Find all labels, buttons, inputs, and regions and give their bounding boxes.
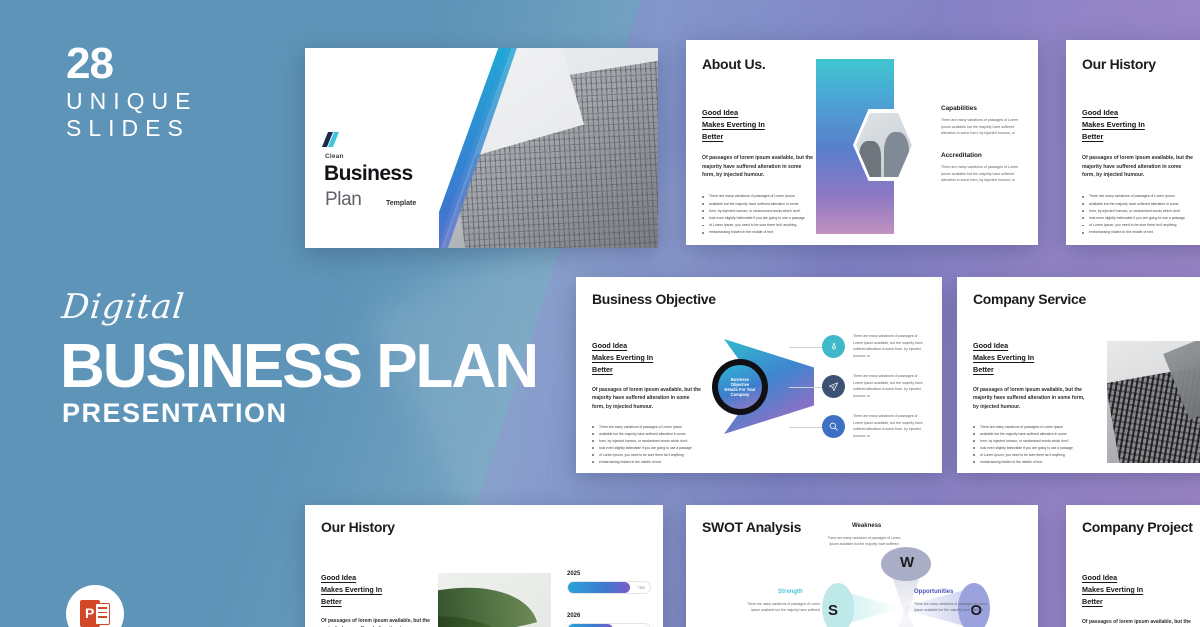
slide-our-history-bottom[interactable]: Our History Good Idea Makes Everting In … — [305, 505, 663, 627]
swot-caption-opportunities: Opportunities — [914, 589, 953, 595]
progress-percent: 75% — [638, 586, 645, 590]
block-head-line3: Better — [1082, 131, 1194, 143]
bullet-item: available but the majority have suffered… — [973, 431, 1085, 438]
bullet-item: available but the majority have suffered… — [1082, 201, 1194, 208]
bullet-item: of Lorem Ipsum, you need to be sure ther… — [702, 222, 814, 229]
bullet-item: look even slightly believable if you are… — [1082, 215, 1194, 222]
objective-item-text: There are many variations of passages of… — [853, 373, 927, 400]
block-head-line2: Makes Everting In — [702, 119, 814, 131]
objective-item-text: There are many variations of passages of… — [853, 333, 927, 360]
about-bullets: There are many variations of passages of… — [702, 193, 814, 236]
progress-label: 2025 — [567, 571, 651, 577]
block-head-line2: Makes Everting In — [592, 352, 702, 364]
objective-block-body: Of passages of lorem ipsum available, bu… — [592, 386, 702, 412]
history-bottom-photo — [438, 573, 551, 627]
bullet-item: There are many variations of passages of… — [702, 193, 814, 200]
cover-title-secondary: Plan — [325, 189, 361, 211]
bullet-item: form, by injected humour, or randomised … — [1082, 208, 1194, 215]
history-top-bullets: There are many variations of passages of… — [1082, 193, 1194, 236]
block-head-line1: Good Idea — [973, 340, 1085, 352]
slide-count-caption-line2: SLIDES — [66, 115, 197, 142]
slide-business-objective[interactable]: Business Objective Good Idea Makes Evert… — [576, 277, 942, 473]
accreditation-heading: Accreditation — [941, 152, 1026, 159]
about-block-body: Of passages of lorem ipsum available, bu… — [702, 154, 814, 181]
history-top-block-heading: Good Idea Makes Everting In Better — [1082, 107, 1194, 144]
swot-letter-s: S — [828, 602, 838, 619]
history-top-title: Our History — [1082, 56, 1156, 72]
objective-title: Business Objective — [592, 291, 716, 307]
progress-fill — [568, 582, 630, 593]
slide-count-caption-line1: UNIQUE — [66, 88, 197, 115]
about-block-heading: Good Idea Makes Everting In Better — [702, 107, 814, 144]
cover-photo-area — [439, 48, 658, 248]
history-top-text-block: Good Idea Makes Everting In Better Of pa… — [1082, 107, 1194, 236]
powerpoint-icon — [80, 599, 110, 627]
hero-script-word: Digital — [60, 287, 187, 327]
block-head-line1: Good Idea — [592, 340, 702, 352]
capabilities-text: There are many variations of passages of… — [941, 117, 1026, 137]
touch-icon[interactable] — [822, 335, 845, 358]
progress-bar[interactable]: 75% — [567, 581, 651, 594]
about-text-block: Good Idea Makes Everting In Better Of pa… — [702, 107, 814, 236]
service-text-block: Good Idea Makes Everting In Better Of pa… — [973, 340, 1085, 466]
project-text-block: Good Idea Makes Everting In Better Of pa… — [1082, 572, 1194, 627]
accreditation-text: There are many variations of passages of… — [941, 164, 1026, 184]
objective-bullets: There are many variations of passages of… — [592, 424, 702, 466]
project-block-body: Of passages of lorem ipsum available, bu… — [1082, 618, 1194, 627]
history-top-block-body: Of passages of lorem ipsum available, bu… — [1082, 154, 1194, 181]
block-head-line2: Makes Everting In — [321, 584, 431, 596]
capabilities-heading: Capabilities — [941, 105, 1026, 112]
objective-item-text: There are many variations of passages of… — [853, 413, 927, 440]
swot-text-strength: There are many variations of passages of… — [744, 601, 820, 614]
swot-text-weakness: There are many variations of passages of… — [826, 535, 902, 548]
about-side-accreditation: Accreditation There are many variations … — [941, 152, 1026, 184]
block-head-line3: Better — [973, 364, 1085, 376]
about-side-capabilities: Capabilities There are many variations o… — [941, 105, 1026, 137]
slide-about-us[interactable]: About Us. Good Idea Makes Everting In Be… — [686, 40, 1038, 245]
progress-bar[interactable]: 55% — [567, 623, 651, 627]
bullet-item: There are many variations of passages of… — [592, 424, 702, 431]
core-line4: Company — [724, 392, 755, 397]
objective-block-heading: Good Idea Makes Everting In Better — [592, 340, 702, 376]
slide-company-project[interactable]: Company Project Good Idea Makes Everting… — [1066, 505, 1200, 627]
slide-count-caption: UNIQUE SLIDES — [66, 88, 197, 142]
swot-title: SWOT Analysis — [702, 519, 801, 535]
history-bottom-block-heading: Good Idea Makes Everting In Better — [321, 572, 431, 608]
swot-text-opportunities: There are many variations of passages of… — [914, 601, 990, 614]
service-block-body: Of passages of lorem ipsum available, bu… — [973, 386, 1085, 412]
cover-title-suffix: Template — [386, 200, 416, 207]
block-head-line2: Makes Everting In — [973, 352, 1085, 364]
block-head-line1: Good Idea — [702, 107, 814, 119]
bullet-item: embarrassing hidden in the middle of tex… — [592, 459, 702, 466]
progress-2025: 2025 75% — [567, 571, 651, 594]
service-bullets: There are many variations of passages of… — [973, 424, 1085, 466]
history-bottom-title: Our History — [321, 519, 395, 535]
bullet-item: embarrassing hidden in the middle of tex… — [702, 229, 814, 236]
bullet-item: There are many variations of passages of… — [973, 424, 1085, 431]
objective-core-label: Business Objective Details For Your Comp… — [718, 365, 762, 409]
project-block-heading: Good Idea Makes Everting In Better — [1082, 572, 1194, 608]
objective-core-ring: Business Objective Details For Your Comp… — [712, 359, 768, 415]
progress-label: 2026 — [567, 613, 651, 619]
block-head-line2: Makes Everting In — [1082, 119, 1194, 131]
swot-caption-strength: Strength — [778, 589, 803, 595]
bullet-item: look even slightly believable if you are… — [973, 445, 1085, 452]
bullet-item: form, by injected humour, or randomised … — [702, 208, 814, 215]
swot-caption-weakness: Weakness — [852, 523, 881, 529]
bullet-item: look even slightly believable if you are… — [592, 445, 702, 452]
cover-kicker: Clean — [325, 153, 344, 160]
block-head-line1: Good Idea — [321, 572, 431, 584]
progress-2026: 2026 55% — [567, 613, 651, 627]
bullet-item: form, by injected humour, or randomised … — [973, 438, 1085, 445]
search-icon[interactable] — [822, 415, 845, 438]
swot-letter-w: W — [900, 554, 914, 571]
slide-cover[interactable]: Clean Business Plan Template Create By :… — [305, 48, 658, 248]
slide-company-service[interactable]: Company Service Good Idea Makes Everting… — [957, 277, 1200, 473]
bullet-item: There are many variations of passages of… — [1082, 193, 1194, 200]
block-head-line3: Better — [702, 131, 814, 143]
block-head-line3: Better — [592, 364, 702, 376]
bullet-item: available but the majority have suffered… — [702, 201, 814, 208]
bullet-item: embarrassing hidden in the middle of tex… — [973, 459, 1085, 466]
bullet-item: of Lorem Ipsum, you need to be sure ther… — [973, 452, 1085, 459]
history-bottom-block-body: Of passages of lorem ipsum available, bu… — [321, 617, 431, 627]
service-photo — [1107, 341, 1200, 463]
slide-our-history-top[interactable]: Our History Good Idea Makes Everting In … — [1066, 40, 1200, 245]
objective-text-block: Good Idea Makes Everting In Better Of pa… — [592, 340, 702, 466]
service-title: Company Service — [973, 291, 1086, 307]
bullet-item: look even slightly believable if you are… — [702, 215, 814, 222]
brand-logo-icon — [325, 132, 338, 147]
slide-swot-analysis[interactable]: SWOT Analysis W S O T Weakness There are… — [686, 505, 1038, 627]
bullet-item: of Lorem Ipsum, you need to be sure ther… — [1082, 222, 1194, 229]
history-bottom-text-block: Good Idea Makes Everting In Better Of pa… — [321, 572, 431, 627]
block-head-line2: Makes Everting In — [1082, 584, 1194, 596]
service-block-heading: Good Idea Makes Everting In Better — [973, 340, 1085, 376]
about-title: About Us. — [702, 56, 765, 72]
block-head-line1: Good Idea — [1082, 107, 1194, 119]
slide-count: 28 — [66, 42, 113, 86]
block-head-line3: Better — [321, 596, 431, 608]
bullet-item: form, by injected humour, or randomised … — [592, 438, 702, 445]
hero-subtitle: PRESENTATION — [62, 398, 288, 429]
powerpoint-badge[interactable] — [66, 585, 124, 627]
about-hexagon-photo — [853, 109, 915, 181]
block-head-line3: Better — [1082, 596, 1194, 608]
bullet-item: embarrassing hidden in the middle of tex… — [1082, 229, 1194, 236]
cover-title: Business — [324, 162, 413, 186]
hero-title: BUSINESS PLAN — [60, 336, 537, 398]
project-title: Company Project — [1082, 519, 1193, 535]
bullet-item: available but the majority have suffered… — [592, 431, 702, 438]
paper-plane-icon[interactable] — [822, 375, 845, 398]
bullet-item: of Lorem Ipsum, you need to be sure ther… — [592, 452, 702, 459]
block-head-line1: Good Idea — [1082, 572, 1194, 584]
